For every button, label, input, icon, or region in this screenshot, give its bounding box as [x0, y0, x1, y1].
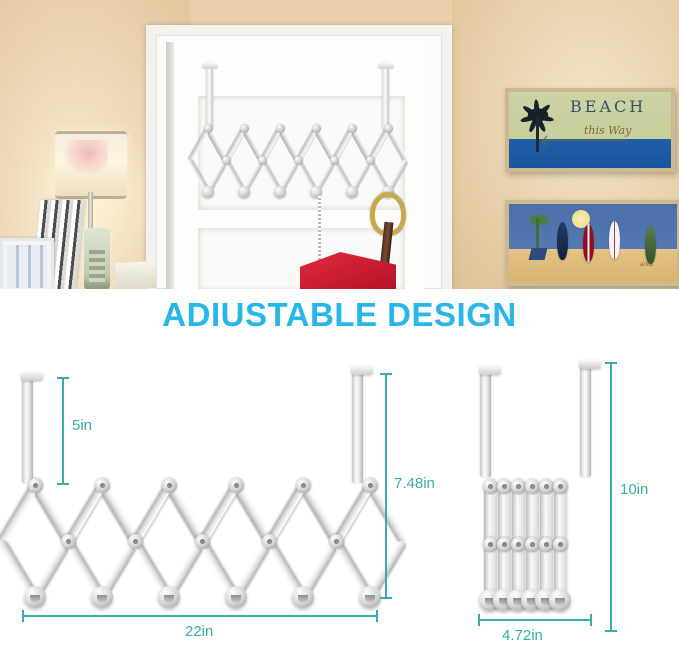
- collapsed-view-diagram: 10in4.72in: [440, 289, 679, 667]
- door-bracket-right-cap: [378, 62, 394, 69]
- dim-cap: [57, 377, 69, 379]
- dim-line-collapsed-height: [610, 362, 612, 632]
- coat-hook[interactable]: [24, 586, 46, 608]
- dim-cap: [605, 362, 617, 364]
- lattice-joint: [294, 156, 303, 165]
- dim-cap: [22, 610, 24, 622]
- lattice-joint: [296, 478, 311, 493]
- painting-board-3: [609, 221, 620, 259]
- door-bracket-right-hook-lip: [579, 359, 601, 369]
- picture-frame: [0, 238, 54, 289]
- lattice-joint: [312, 124, 321, 133]
- paper-stack: [115, 261, 156, 289]
- dimension-section: ADIUSTABLE DESIGN 5in7.48in22in 10in4.72…: [0, 289, 679, 667]
- lattice-joint: [539, 537, 554, 552]
- dim-line-overall-height: [385, 373, 387, 599]
- dim-cap: [380, 597, 392, 599]
- dim-label-10in: 10in: [620, 481, 648, 498]
- painting-signature: artist: [640, 262, 653, 268]
- door-bracket-left: [206, 62, 213, 128]
- cordless-phone: [84, 228, 110, 289]
- coat-hook[interactable]: [202, 186, 214, 198]
- dim-cap: [590, 614, 592, 626]
- lattice-joint: [553, 479, 568, 494]
- coat-hook[interactable]: [346, 186, 358, 198]
- door-bracket-right: [382, 62, 389, 130]
- accordion-lattice-photo: [196, 122, 404, 197]
- dim-cap: [605, 630, 617, 632]
- lattice-joint: [384, 124, 393, 133]
- beach-sign-title: BEACH: [570, 97, 646, 116]
- door-bracket-left-hook-lip: [479, 365, 501, 375]
- coat-hook[interactable]: [274, 186, 286, 198]
- lattice-joint: [497, 479, 512, 494]
- dim-cap: [376, 610, 378, 622]
- lattice-joint: [128, 534, 143, 549]
- lamp-floral-print: [64, 140, 108, 174]
- lattice-joint: [222, 156, 231, 165]
- coat-hook[interactable]: [158, 586, 180, 608]
- dim-cap: [57, 483, 69, 485]
- dim-label-748in: 7.48in: [394, 475, 435, 492]
- lattice-joint: [240, 124, 249, 133]
- lifestyle-photo: BEACH this Way artist: [0, 0, 679, 289]
- painting-beach-chair: [529, 248, 548, 260]
- dim-line-overall-width: [22, 615, 378, 617]
- lattice-joint: [348, 124, 357, 133]
- painting-board-4: [645, 226, 656, 264]
- lattice-joint: [483, 479, 498, 494]
- lattice-joint: [61, 534, 76, 549]
- door-bracket-right: [580, 361, 591, 477]
- lattice-joint: [162, 478, 177, 493]
- dim-line-bracket-height: [62, 377, 64, 485]
- lattice-joint: [95, 478, 110, 493]
- dim-line-collapsed-width: [478, 619, 592, 621]
- beach-sign-subtitle: this Way: [584, 124, 631, 137]
- lattice-joint: [525, 537, 540, 552]
- lattice-joint: [525, 479, 540, 494]
- expanded-view-diagram: 5in7.48in22in: [0, 289, 420, 667]
- coat-hook[interactable]: [91, 586, 113, 608]
- lattice-joint: [329, 534, 344, 549]
- door-bracket-left-cap: [202, 62, 218, 69]
- lattice-joint: [553, 537, 568, 552]
- coat-hook[interactable]: [549, 589, 571, 611]
- dim-cap: [380, 373, 392, 375]
- lattice-joint: [258, 156, 267, 165]
- painting-palm-fronds: [524, 212, 554, 228]
- coat-hook[interactable]: [359, 586, 381, 608]
- lattice-joint: [276, 124, 285, 133]
- coat-hook[interactable]: [225, 586, 247, 608]
- lattice-joint: [363, 478, 378, 493]
- dim-label-5in: 5in: [72, 417, 92, 434]
- dim-cap: [478, 614, 480, 626]
- dim-label-22in: 22in: [185, 623, 213, 640]
- painting-board-1: [557, 222, 568, 260]
- hanger-on-door: [196, 62, 404, 197]
- lattice-joint: [330, 156, 339, 165]
- painting-board-2: [583, 224, 594, 262]
- lattice-joint: [483, 537, 498, 552]
- lattice-joint: [204, 124, 213, 133]
- dim-label-472in: 4.72in: [502, 627, 543, 644]
- lattice-joint: [511, 479, 526, 494]
- door-bracket-left: [480, 367, 491, 477]
- coat-hook[interactable]: [292, 586, 314, 608]
- lattice-joint: [366, 156, 375, 165]
- lattice-joint: [28, 478, 43, 493]
- lattice-joint: [262, 534, 277, 549]
- necklace-chain: [318, 196, 321, 268]
- beach-sign-arrow-icon: [543, 140, 627, 141]
- product-infographic: BEACH this Way artist ADIUSTABLE DESIGN …: [0, 0, 679, 667]
- lattice-joint: [229, 478, 244, 493]
- lattice-joint: [497, 537, 512, 552]
- lattice-joint: [195, 534, 210, 549]
- sign-palm-trunk: [536, 118, 539, 152]
- lamp-shade: [55, 131, 127, 199]
- lattice-joint: [539, 479, 554, 494]
- coat-hook[interactable]: [238, 186, 250, 198]
- lattice-joint: [511, 537, 526, 552]
